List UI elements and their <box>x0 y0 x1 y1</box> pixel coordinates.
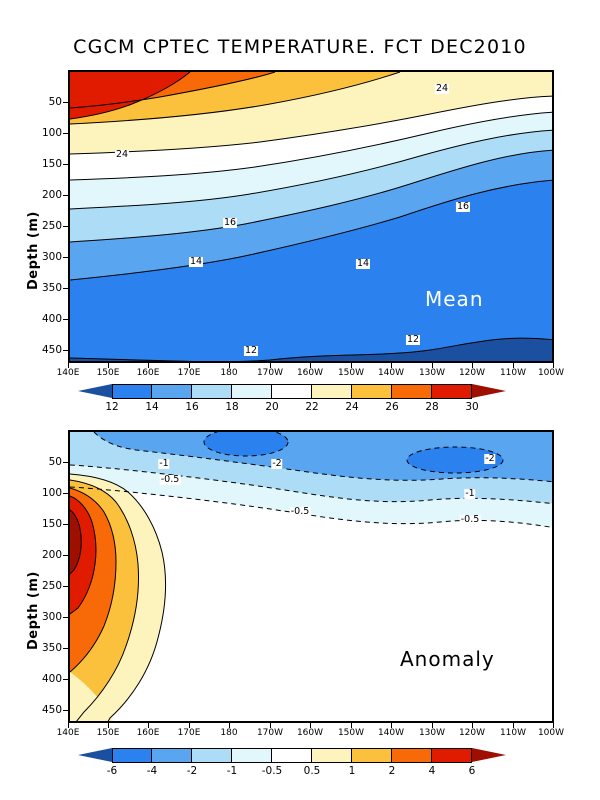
figure-title: CGCM CPTEC TEMPERATURE. FCT DEC2010 <box>0 36 600 58</box>
anom-ytick-400: 400 <box>36 673 62 685</box>
anom-cbar-tick-p1: 1 <box>349 765 356 777</box>
mean-contour-label-16b: 16 <box>456 202 470 212</box>
mean-colorbar-left-cap <box>78 384 112 398</box>
anomaly-colorbar-cell <box>352 748 392 763</box>
anom-xtick-140E: 140E <box>57 728 80 738</box>
mean-ytick-250: 250 <box>36 220 62 232</box>
anomaly-colorbar-cell <box>232 748 272 763</box>
mean-plot-area: 24 24 16 16 14 14 12 12 Mean <box>68 70 554 363</box>
mean-xtick-130W: 130W <box>419 368 445 378</box>
anom-ytick-50: 50 <box>36 456 62 468</box>
mean-cbar-tick-14: 14 <box>145 401 158 413</box>
anomaly-colorbar-cell <box>192 748 232 763</box>
anom-cbar-tick-m05: -0.5 <box>262 765 283 777</box>
mean-xtick-140E: 140E <box>57 368 80 378</box>
mean-colorbar-cell <box>312 384 352 399</box>
anom-cbar-tick-m1: -1 <box>227 765 237 777</box>
anomaly-contour-field <box>70 432 554 723</box>
anomaly-colorbar-cell <box>152 748 192 763</box>
mean-contour-label-16a: 16 <box>223 218 237 228</box>
anom-contour-label-m2a: -2 <box>271 459 282 469</box>
mean-ytick-200: 200 <box>36 189 62 201</box>
anom-contour-label-m05c: -0.5 <box>460 515 481 525</box>
anom-xtick-160E: 160E <box>137 728 160 738</box>
figure-root: CGCM CPTEC TEMPERATURE. FCT DEC2010 Dept… <box>0 0 600 800</box>
anom-contour-label-m1a: -1 <box>158 459 169 469</box>
mean-ytick-100: 100 <box>36 127 62 139</box>
mean-colorbar-cell <box>272 384 312 399</box>
mean-xtick-170E: 170E <box>178 368 201 378</box>
mean-cbar-tick-26: 26 <box>385 401 398 413</box>
anomaly-colorbar-right-cap <box>472 748 506 762</box>
anom-xtick-170W: 170W <box>257 728 283 738</box>
anomaly-colorbar-cell <box>272 748 312 763</box>
mean-colorbar-cell <box>112 384 152 399</box>
mean-colorbar-cell <box>192 384 232 399</box>
anom-contour-label-m2b: -2 <box>484 454 495 464</box>
anom-cbar-tick-p4: 4 <box>429 765 436 777</box>
anom-cbar-tick-p2: 2 <box>389 765 396 777</box>
anom-cbar-tick-m4: -4 <box>147 765 157 777</box>
mean-xtick-180: 180 <box>220 368 237 378</box>
mean-ytick-350: 350 <box>36 282 62 294</box>
mean-xtick-110W: 110W <box>500 368 526 378</box>
mean-cbar-tick-24: 24 <box>345 401 358 413</box>
mean-xtick-120W: 120W <box>459 368 485 378</box>
anom-ytick-350: 350 <box>36 642 62 654</box>
anomaly-colorbar-cell <box>112 748 152 763</box>
mean-xtick-160E: 160E <box>137 368 160 378</box>
anom-xtick-150E: 150E <box>97 728 120 738</box>
anom-cbar-tick-p05: 0.5 <box>304 765 321 777</box>
anomaly-colorbar-cell <box>312 748 352 763</box>
mean-xtick-150E: 150E <box>97 368 120 378</box>
anomaly-colorbar-cell <box>392 748 432 763</box>
anomaly-colorbar-left-cap <box>78 748 112 762</box>
mean-xtick-100W: 100W <box>538 368 564 378</box>
mean-cbar-tick-18: 18 <box>225 401 238 413</box>
mean-colorbar-cell <box>152 384 192 399</box>
mean-ytick-400: 400 <box>36 313 62 325</box>
anom-xtick-130W: 130W <box>419 728 445 738</box>
mean-contour-label-14a: 14 <box>189 257 203 267</box>
anomaly-plot-area: -1 -2 -2 -0.5 -0.5 -1 -0.5 Anomaly <box>68 430 554 723</box>
anom-ytick-150: 150 <box>36 518 62 530</box>
anom-cbar-tick-p6: 6 <box>469 765 476 777</box>
anom-xtick-160W: 160W <box>297 728 323 738</box>
anom-xtick-150W: 150W <box>338 728 364 738</box>
anom-xtick-120W: 120W <box>459 728 485 738</box>
mean-colorbar-cell <box>232 384 272 399</box>
mean-ytick-50: 50 <box>36 96 62 108</box>
mean-cbar-tick-20: 20 <box>265 401 278 413</box>
mean-ytick-300: 300 <box>36 251 62 263</box>
mean-xtick-140W: 140W <box>378 368 404 378</box>
mean-cbar-tick-16: 16 <box>185 401 198 413</box>
mean-ytick-150: 150 <box>36 158 62 170</box>
anom-ytick-250: 250 <box>36 580 62 592</box>
anom-ytick-100: 100 <box>36 487 62 499</box>
mean-colorbar-right-cap <box>472 384 506 398</box>
anomaly-panel-label: Anomaly <box>400 647 495 671</box>
mean-ytick-450: 450 <box>36 344 62 356</box>
mean-contour-field <box>70 72 554 363</box>
mean-xtick-170W: 170W <box>257 368 283 378</box>
mean-colorbar-cell <box>392 384 432 399</box>
anomaly-colorbar-cell <box>432 748 472 763</box>
anom-contour-label-m05a: -0.5 <box>160 475 181 485</box>
mean-contour-label-12a: 12 <box>244 346 258 356</box>
mean-xtick-150W: 150W <box>338 368 364 378</box>
anom-ytick-450: 450 <box>36 704 62 716</box>
anom-xtick-110W: 110W <box>500 728 526 738</box>
anom-contour-label-m1b: -1 <box>464 489 475 499</box>
mean-contour-label-24b: 24 <box>435 84 449 94</box>
anom-contour-label-m05b: -0.5 <box>290 507 311 517</box>
anom-xtick-170E: 170E <box>178 728 201 738</box>
mean-panel-label: Mean <box>425 287 484 311</box>
mean-cbar-tick-22: 22 <box>305 401 318 413</box>
anom-ytick-200: 200 <box>36 549 62 561</box>
mean-contour-label-12b: 12 <box>406 335 420 345</box>
mean-colorbar-cell <box>432 384 472 399</box>
anom-cbar-tick-m2: -2 <box>187 765 197 777</box>
anom-cbar-tick-m6: -6 <box>107 765 117 777</box>
mean-cbar-tick-12: 12 <box>105 401 118 413</box>
mean-cbar-tick-28: 28 <box>425 401 438 413</box>
anom-ytick-300: 300 <box>36 611 62 623</box>
mean-contour-label-24a: 24 <box>115 150 129 160</box>
mean-colorbar-cell <box>352 384 392 399</box>
mean-xtick-160W: 160W <box>297 368 323 378</box>
anom-xtick-180: 180 <box>220 728 237 738</box>
anom-xtick-140W: 140W <box>378 728 404 738</box>
mean-contour-label-14b: 14 <box>356 259 370 269</box>
mean-cbar-tick-30: 30 <box>465 401 478 413</box>
anom-xtick-100W: 100W <box>538 728 564 738</box>
